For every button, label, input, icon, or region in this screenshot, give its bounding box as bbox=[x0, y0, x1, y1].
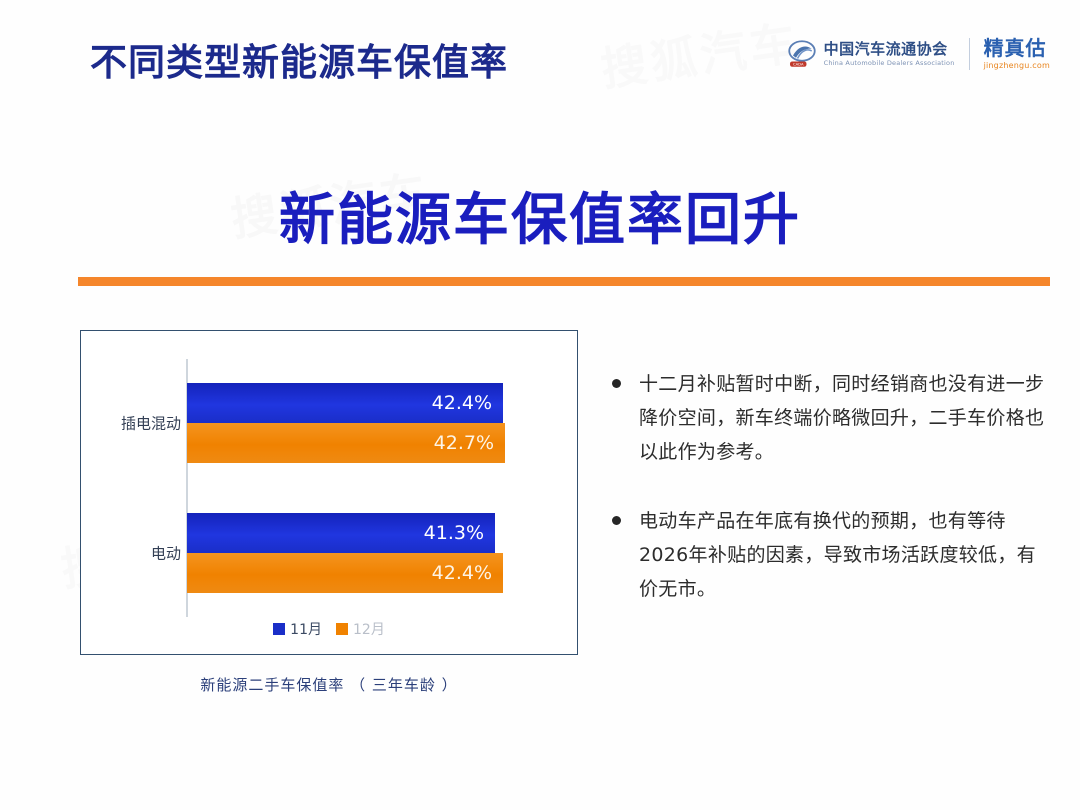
chart-category-label: 插电混动 bbox=[121, 413, 181, 434]
bullet-list: 十二月补贴暂时中断，同时经销商也没有进一步降价空间，新车终端价略微回升，二手车价… bbox=[612, 368, 1052, 643]
cada-name-en: China Automobile Dealers Association bbox=[824, 60, 955, 67]
chart-category-label: 电动 bbox=[151, 543, 181, 564]
cada-name-cn: 中国汽车流通协会 bbox=[824, 42, 955, 58]
chart-bar: 41.3% bbox=[187, 513, 495, 553]
cada-wordmark: 中国汽车流通协会 China Automobile Dealers Associ… bbox=[824, 42, 955, 67]
legend-swatch-blue bbox=[273, 623, 285, 635]
chart-plot-area: 插电混动 42.4% 42.7% 电动 41.3% 42.4% bbox=[81, 331, 577, 654]
slide-header: 不同类型新能源车保值率 CADA 中国汽车流通协会 China Automobi… bbox=[0, 0, 1080, 112]
chart-bar-value: 42.4% bbox=[432, 392, 492, 414]
legend-item-nov: 11月 bbox=[273, 619, 322, 639]
list-item: 电动车产品在年底有换代的预期，也有等待2026年补贴的因素，导致市场活跃度较低，… bbox=[612, 505, 1052, 606]
cada-emblem-icon: CADA bbox=[787, 39, 817, 69]
chart-caption: 新能源二手车保值率 （ 三年车龄 ） bbox=[80, 674, 578, 695]
chart-bar-value: 42.7% bbox=[434, 432, 494, 454]
chart-bar: 42.7% bbox=[187, 423, 505, 463]
bullet-dot-icon bbox=[612, 379, 621, 388]
legend-label: 12月 bbox=[353, 619, 385, 639]
bullet-text: 十二月补贴暂时中断，同时经销商也没有进一步降价空间，新车终端价略微回升，二手车价… bbox=[639, 368, 1052, 469]
jingzhengu-url: jingzhengu.com bbox=[984, 62, 1050, 70]
chart-category-group: 电动 41.3% 42.4% bbox=[81, 513, 577, 593]
chart-bar-value: 41.3% bbox=[424, 522, 484, 544]
svg-text:CADA: CADA bbox=[793, 63, 804, 67]
legend-item-dec: 12月 bbox=[336, 619, 385, 639]
bullet-text: 电动车产品在年底有换代的预期，也有等待2026年补贴的因素，导致市场活跃度较低，… bbox=[639, 505, 1052, 606]
legend-swatch-orange bbox=[336, 623, 348, 635]
cada-logo: CADA 中国汽车流通协会 China Automobile Dealers A… bbox=[787, 39, 955, 69]
title-divider-rule bbox=[78, 277, 1050, 286]
stripe-navy bbox=[1055, 726, 1080, 810]
chart-bar: 42.4% bbox=[187, 553, 503, 593]
bullet-dot-icon bbox=[612, 516, 621, 525]
brand-lockup: CADA 中国汽车流通协会 China Automobile Dealers A… bbox=[787, 38, 1050, 70]
main-title: 新能源车保值率回升 bbox=[0, 175, 1080, 256]
chart-panel: 插电混动 42.4% 42.7% 电动 41.3% 42.4% bbox=[80, 330, 578, 655]
brand-divider bbox=[969, 38, 970, 70]
chart-bar: 42.4% bbox=[187, 383, 503, 423]
jingzhengu-logo: 精真估 jingzhengu.com bbox=[984, 38, 1050, 70]
jingzhengu-name-cn: 精真估 bbox=[984, 38, 1050, 59]
legend-label: 11月 bbox=[290, 619, 322, 639]
list-item: 十二月补贴暂时中断，同时经销商也没有进一步降价空间，新车终端价略微回升，二手车价… bbox=[612, 368, 1052, 469]
header-title: 不同类型新能源车保值率 bbox=[90, 32, 508, 86]
chart-category-group: 插电混动 42.4% 42.7% bbox=[81, 383, 577, 463]
slide: 搜狐汽车 搜狐汽车 搜狐汽车 不同类型新能源车保值率 CADA bbox=[0, 0, 1080, 810]
chart-legend: 11月 12月 bbox=[81, 619, 577, 639]
chart-bar-value: 42.4% bbox=[432, 562, 492, 584]
